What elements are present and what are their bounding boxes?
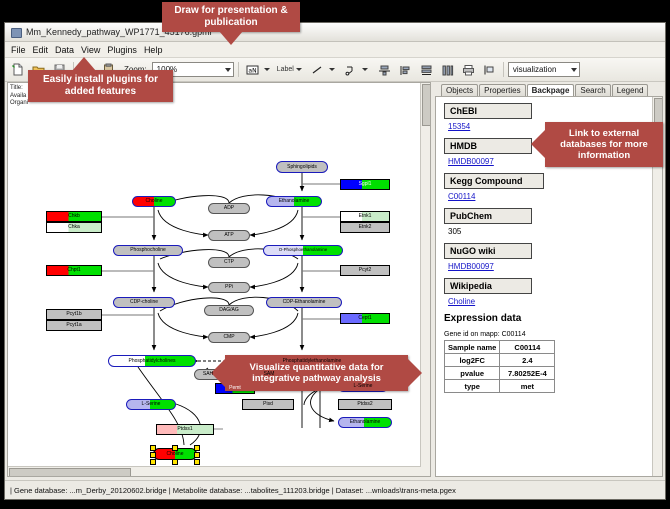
screenshot-root: Mm_Kennedy_pathway_WP1771_45176.gpml Fil… [0, 0, 670, 509]
db-header-chebi: ChEBI [444, 103, 532, 119]
label-dropdown-icon[interactable] [296, 68, 302, 71]
node-label: SAH [203, 372, 213, 377]
node-cmp[interactable]: CMP [208, 332, 250, 343]
node-label: L-Serine [354, 384, 373, 389]
node-phosphatidylcholines[interactable]: Phosphatidylcholines [108, 355, 196, 367]
selection-handle-nw[interactable] [150, 445, 156, 451]
menu-item-edit[interactable]: Edit [33, 45, 49, 55]
canvas-vscroll-thumb[interactable] [422, 84, 431, 126]
callout-draw-arrow-icon [219, 31, 243, 45]
canvas-horizontal-scrollbar[interactable] [8, 466, 421, 476]
node-label: Sphingolipids [287, 165, 317, 170]
selection-handle-se[interactable] [194, 459, 200, 465]
callout-visualize-arrow-right-icon [408, 359, 422, 387]
expr-key-sample-name: Sample name [445, 341, 500, 354]
node-label: Cept1 [358, 316, 371, 321]
db-link-kegg-compound[interactable]: C00114 [448, 192, 662, 201]
visualization-value: visualization [513, 65, 557, 74]
selection-handle-e[interactable] [194, 452, 200, 458]
node-etnk2[interactable]: Etnk2 [340, 222, 390, 233]
db-header-hmdb: HMDB [444, 138, 532, 154]
node-label: ATP [224, 233, 233, 238]
new-file-icon[interactable] [8, 60, 27, 79]
node-sphingolipids[interactable]: Sphingolipids [276, 161, 328, 173]
tab-legend[interactable]: Legend [612, 84, 649, 96]
node-label: Pcyt2 [359, 268, 372, 273]
print-icon[interactable] [459, 60, 478, 79]
node-label: Pemt [229, 386, 241, 391]
tab-properties[interactable]: Properties [479, 84, 525, 96]
node-label: Sgpl1 [359, 182, 372, 187]
callout-visualize-text: Visualize quantitative data for integrat… [231, 362, 402, 384]
db-header-nugo-wiki: NuGO wiki [444, 243, 532, 259]
toolbar-separator-3 [503, 62, 504, 77]
menu-item-help[interactable]: Help [144, 45, 163, 55]
node-adp[interactable]: ADP [208, 203, 250, 214]
node-label: SAM [264, 372, 275, 377]
canvas-vertical-scrollbar[interactable] [420, 83, 430, 476]
align-center-icon[interactable] [375, 60, 394, 79]
node-label: Phosphatidylcholines [129, 359, 176, 364]
node-label: O-Phosphoethanolamine [279, 248, 328, 252]
node-label: Ptdss1 [177, 427, 192, 432]
db-value-pubchem: 305 [448, 227, 662, 236]
node-l-serine-left[interactable]: L-Serine [126, 399, 176, 410]
expr-val-sample-name: C00114 [500, 341, 555, 354]
expression-data-heading: Expression data [444, 313, 662, 324]
callout-links-arrow-icon [531, 130, 545, 158]
node-cept1[interactable]: Cept1 [340, 313, 390, 324]
tab-search[interactable]: Search [575, 84, 610, 96]
node-o-phosphoethanolamine[interactable]: O-Phosphoethanolamine [263, 245, 343, 256]
svg-text:aN: aN [248, 67, 256, 74]
selection-handle-w[interactable] [150, 452, 156, 458]
expr-key-log2fc: log2FC [445, 354, 500, 367]
node-ethanolamine-top[interactable]: Ethanolamine [266, 196, 322, 207]
node-label: Ethanolamine [350, 420, 381, 425]
node-ethanolamine-bottom[interactable]: Ethanolamine [338, 417, 392, 428]
line-icon[interactable] [308, 60, 327, 79]
node-chpt1[interactable]: Chpt1 [46, 265, 102, 276]
callout-draw-text: Draw for presentation & publication [168, 5, 294, 29]
side-panel-tabs: Objects Properties Backpage Search Legen… [433, 82, 663, 96]
align-left-icon[interactable] [396, 60, 415, 79]
expr-val-type: met [500, 380, 555, 393]
callout-plugins-text: Easily install plugins for added feature… [34, 74, 167, 98]
menu-item-file[interactable]: File [11, 45, 26, 55]
selection-handle-s[interactable] [172, 459, 178, 465]
callout-draw: Draw for presentation & publication [162, 2, 300, 32]
expression-table: Sample name C00114 log2FC 2.4 pvalue 7.8… [444, 340, 555, 393]
node-label: CMP [223, 335, 234, 340]
node-ctp[interactable]: CTP [208, 257, 250, 268]
expr-key-pvalue: pvalue [445, 367, 500, 380]
node-chkb[interactable]: Chkb [46, 211, 102, 222]
node-cdp-choline[interactable]: CDP-choline [113, 297, 175, 308]
node-label: Pisd [263, 402, 273, 407]
menu-item-view[interactable]: View [81, 45, 100, 55]
anchor-dropdown-icon[interactable] [362, 68, 368, 71]
line-dropdown-icon[interactable] [329, 68, 335, 71]
callout-links: Link to external databases for more info… [545, 122, 663, 167]
node-label: L-Serine [142, 402, 161, 407]
db-header-wikipedia: Wikipedia [444, 278, 532, 294]
node-label: Chpt1 [67, 268, 80, 273]
callout-links-text: Link to external databases for more info… [551, 128, 657, 161]
node-label: Pcyt1a [66, 323, 81, 328]
chevron-down-icon [225, 68, 231, 72]
chevron-down-icon-2 [571, 68, 577, 72]
visualization-combo[interactable]: visualization [508, 62, 580, 77]
tab-objects[interactable]: Objects [441, 84, 478, 96]
db-header-kegg-compound: Kegg Compound [444, 173, 544, 189]
selection-handle-ne[interactable] [194, 445, 200, 451]
node-sgpl1[interactable]: Sgpl1 [340, 179, 390, 190]
node-ptdss1[interactable]: Ptdss1 [156, 424, 214, 435]
node-label: Chka [68, 225, 80, 230]
table-row: pvalue 7.80252E-4 [445, 367, 555, 380]
anchor-icon[interactable] [341, 60, 360, 79]
node-atp[interactable]: ATP [208, 230, 250, 241]
node-label: ADP [224, 206, 234, 211]
distribute-vertical-icon[interactable] [417, 60, 436, 79]
node-pcyt1b[interactable]: Pcyt1b [46, 309, 102, 320]
node-label: CDP-choline [130, 300, 158, 305]
db-link-wikipedia[interactable]: Choline [448, 297, 662, 306]
expr-val-log2fc: 2.4 [500, 354, 555, 367]
node-label: Chkb [68, 214, 80, 219]
node-label: Choline [167, 452, 184, 457]
menu-bar: File Edit Data View Plugins Help [5, 42, 665, 58]
node-label: Ethanolamine [279, 199, 310, 204]
node-label: Pcyt1b [66, 312, 81, 317]
node-phosphocholine[interactable]: Phosphocholine [113, 245, 183, 256]
datanode-dropdown-icon[interactable] [264, 68, 270, 71]
selection-handle-sw[interactable] [150, 459, 156, 465]
callout-plugins-arrow-icon [72, 57, 96, 71]
expression-gene-id: Gene id on mapp: C00114 [444, 331, 662, 338]
node-label: Etnk2 [359, 225, 372, 230]
node-cdp-ethanolamine[interactable]: CDP-Ethanolamine [266, 297, 342, 308]
label-button[interactable]: Label [277, 66, 294, 73]
node-pcyt1a[interactable]: Pcyt1a [46, 320, 102, 331]
node-label: Ptdss2 [357, 402, 372, 407]
db-link-nugo-wiki[interactable]: HMDB00097 [448, 262, 662, 271]
table-row: type met [445, 380, 555, 393]
node-chka[interactable]: Chka [46, 222, 102, 233]
callout-plugins: Easily install plugins for added feature… [28, 70, 173, 102]
toolbar-separator-2 [238, 62, 239, 77]
title-bar: Mm_Kennedy_pathway_WP1771_45176.gpml [5, 23, 665, 42]
node-pcyt2[interactable]: Pcyt2 [340, 265, 390, 276]
node-label: PPi [225, 285, 233, 290]
node-label: CTP [224, 260, 234, 265]
node-label: Etnk1 [359, 214, 372, 219]
node-pisd[interactable]: Pisd [242, 399, 294, 410]
menu-item-plugins[interactable]: Plugins [107, 45, 137, 55]
node-ptdss2[interactable]: Ptdss2 [338, 399, 392, 410]
node-label: DAG/AG [219, 308, 238, 313]
pathway-canvas[interactable]: Title: Availa Organi [7, 82, 431, 477]
node-label: Choline [146, 199, 163, 204]
node-choline[interactable]: Choline [132, 196, 176, 207]
datanode-icon[interactable]: aN [243, 60, 262, 79]
node-label: Phosphocholine [130, 248, 166, 253]
expr-val-pvalue: 7.80252E-4 [500, 367, 555, 380]
table-row: log2FC 2.4 [445, 354, 555, 367]
distribute-horizontal-icon[interactable] [438, 60, 457, 79]
canvas-hscroll-thumb[interactable] [9, 468, 131, 477]
app-icon [10, 26, 22, 38]
expr-key-type: type [445, 380, 500, 393]
menu-item-data[interactable]: Data [55, 45, 74, 55]
node-dag-ag[interactable]: DAG/AG [204, 305, 254, 316]
node-ppi[interactable]: PPi [208, 282, 250, 293]
table-row: Sample name C00114 [445, 341, 555, 354]
node-label: CDP-Ethanolamine [283, 300, 326, 305]
layout-icon[interactable] [480, 60, 499, 79]
db-header-pubchem: PubChem [444, 208, 532, 224]
status-bar-text: | Gene database: ...m_Derby_20120602.bri… [10, 486, 456, 495]
node-label: Phosphatidylethanolamine [283, 359, 342, 364]
status-bar: | Gene database: ...m_Derby_20120602.bri… [5, 480, 665, 499]
node-etnk1[interactable]: Etnk1 [340, 211, 390, 222]
